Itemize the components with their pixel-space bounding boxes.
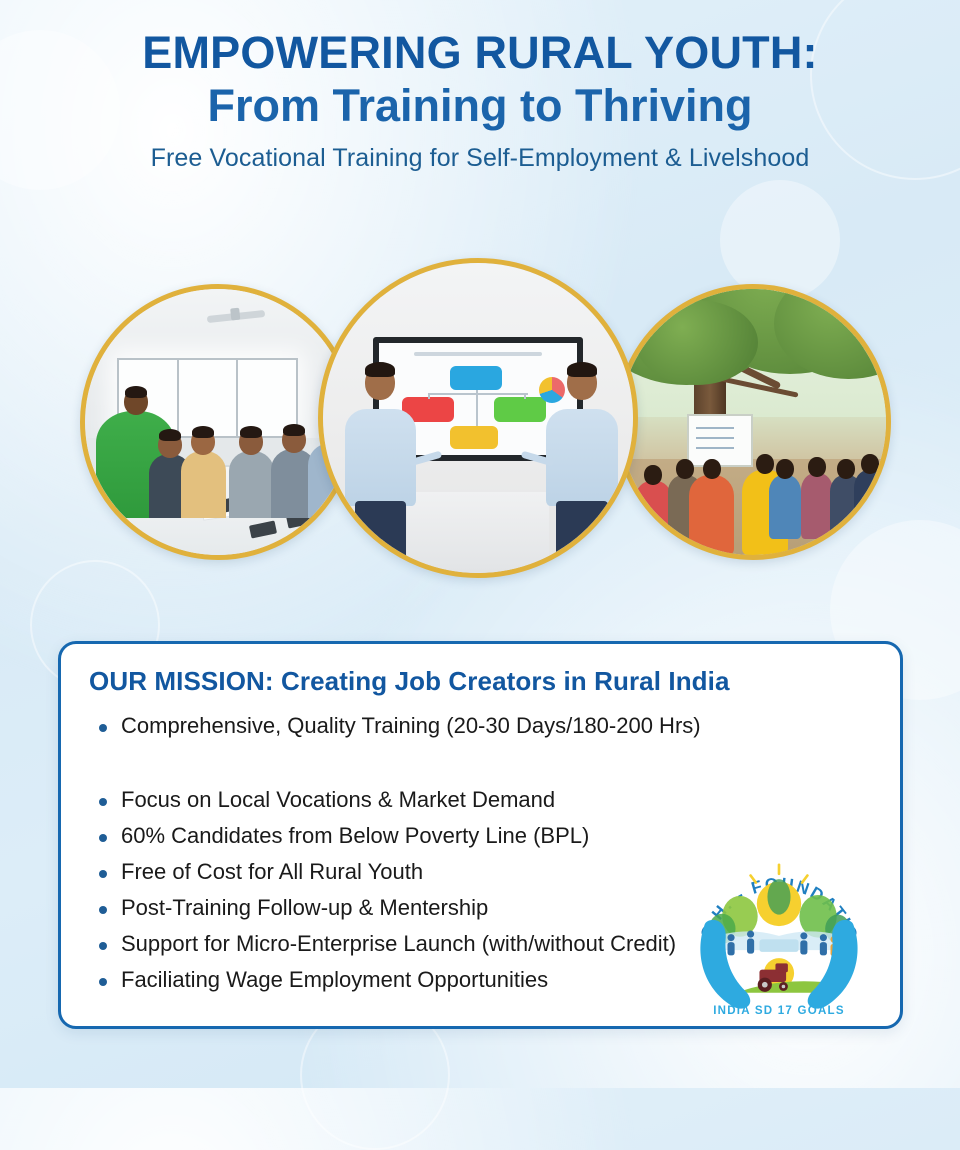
student — [854, 470, 886, 539]
student-orange-saree — [689, 475, 734, 555]
list-item: Comprehensive, Quality Training (20-30 D… — [95, 715, 900, 737]
photo-classroom-meeting — [80, 284, 356, 560]
mission-heading: OUR MISSION: Creating Job Creators in Ru… — [89, 666, 900, 697]
photo-outdoor-village-training-image — [620, 289, 886, 555]
person-woman — [181, 451, 226, 518]
photo-presentation-screen-image — [323, 263, 633, 573]
person — [229, 451, 274, 518]
list-item: Post-Training Follow-up & Mentership — [95, 897, 900, 919]
tree-canopy — [636, 300, 758, 385]
mission-heading-rest: Creating Job Creators in Rural India — [274, 666, 730, 696]
mission-heading-bold: OUR MISSION: — [89, 666, 274, 696]
student — [801, 473, 833, 540]
whiteboard — [687, 414, 754, 467]
photo-collage — [0, 258, 960, 588]
photo-outdoor-village-training — [615, 284, 891, 560]
presenter-right — [546, 362, 617, 573]
student — [769, 475, 801, 539]
list-item: 60% Candidates from Below Poverty Line (… — [95, 825, 900, 847]
poster-subtitle: Free Vocational Training for Self-Employ… — [0, 144, 960, 173]
list-item: Free of Cost for All Rural Youth — [95, 861, 900, 883]
photo-presentation-screen — [318, 258, 638, 578]
poster-title-line-1: EMPOWERING RURAL YOUTH: — [0, 28, 960, 78]
poster-header: EMPOWERING RURAL YOUTH: From Training to… — [0, 0, 960, 173]
mission-card: OUR MISSION: Creating Job Creators in Ru… — [58, 641, 903, 1029]
poster-title-line-2: From Training to Thriving — [0, 78, 960, 134]
list-item: Focus on Local Vocations & Market Demand — [95, 789, 900, 811]
logo-bottom-text: INDIA SD 17 GOALS — [713, 1005, 845, 1017]
list-item: Faciliating Wage Employment Opportunitie… — [95, 969, 900, 991]
mission-bullet-list: Comprehensive, Quality Training (20-30 D… — [95, 715, 900, 991]
list-item: Support for Micro-Enterprise Launch (wit… — [95, 933, 900, 955]
presenter-left — [345, 362, 416, 573]
photo-classroom-meeting-image — [85, 289, 351, 555]
student — [636, 481, 671, 540]
